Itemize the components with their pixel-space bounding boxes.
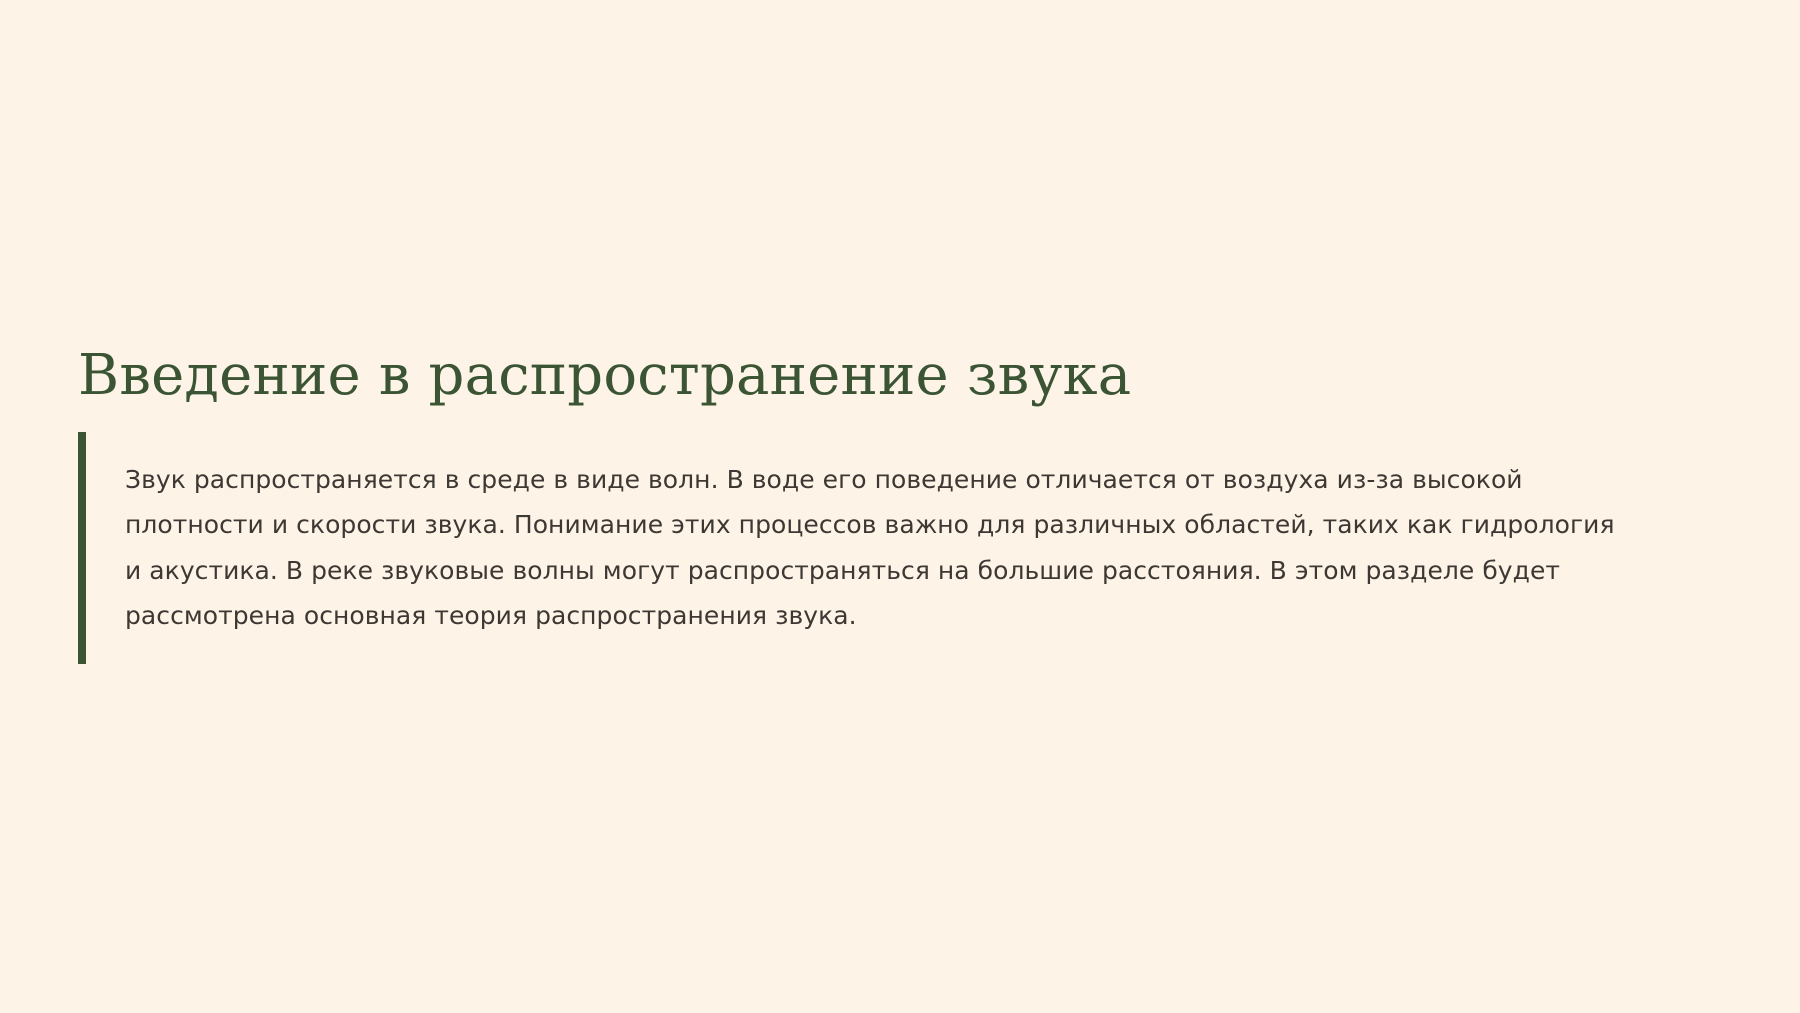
accent-bar xyxy=(78,432,86,664)
section-container: Введение в распространение звука Звук ра… xyxy=(78,345,1718,664)
lead-paragraph-block: Звук распространяется в среде в виде вол… xyxy=(78,432,1718,664)
page-title: Введение в распространение звука xyxy=(78,345,1718,408)
document-page: Введение в распространение звука Звук ра… xyxy=(0,0,1800,1013)
section-paragraph: Звук распространяется в среде в виде вол… xyxy=(125,457,1615,639)
